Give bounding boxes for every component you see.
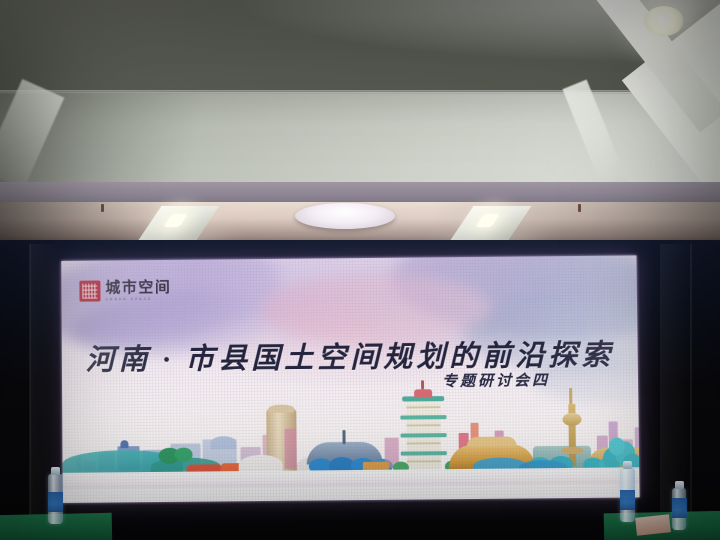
ceiling-diffuser-icon [295,203,395,229]
conference-hall-photo: 城市空间 URBAN SPACE 河南 · 市县国土空间规划的前沿探索 专题研讨… [0,0,720,540]
ceiling-seam [0,90,720,94]
wall-edge-right [690,244,692,540]
led-screen[interactable]: 城市空间 URBAN SPACE 河南 · 市县国土空间规划的前沿探索 专题研讨… [61,255,639,503]
soffit-fixing-right [578,204,581,212]
soffit-fixing-left [101,204,104,212]
water-bottle-left[interactable] [48,474,63,524]
wall-edge-left [29,244,31,540]
led-pixel-grid [61,255,639,503]
delegate-name-card [635,514,671,535]
water-bottle-right-short[interactable] [672,488,686,530]
soffit-front-face [0,182,720,204]
spotlight-icon [644,6,684,36]
water-bottle-right-tall[interactable] [620,468,635,522]
